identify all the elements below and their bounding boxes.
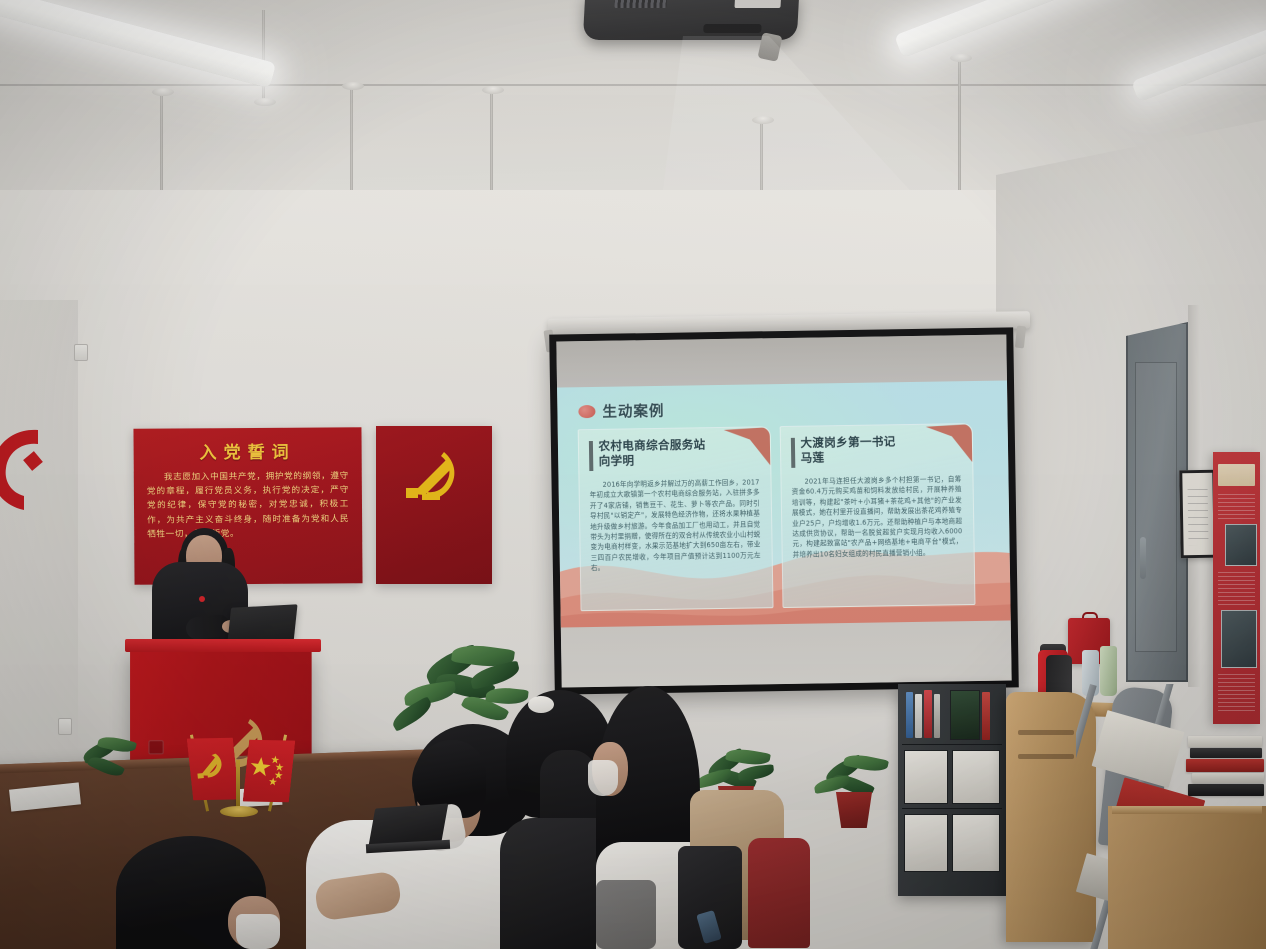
- podium-latch[interactable]: [148, 740, 163, 754]
- party-badge-pin-icon: [199, 596, 205, 602]
- desk-national-flag: [243, 736, 296, 806]
- screen-blank-top: [556, 334, 1007, 387]
- party-oath-title: 入党誓词: [147, 437, 349, 463]
- slide-section-label: 生动案例: [602, 400, 664, 422]
- podium-top-edge: [125, 639, 321, 652]
- light-hanger-plate: [752, 116, 774, 124]
- card-title-line2: 向学明: [599, 452, 706, 469]
- calligraphy-frame: [952, 814, 1000, 872]
- wall-socket: [74, 344, 88, 361]
- meeting-room-photo: 入党誓词 我志愿加入中国共产党，拥护党的纲领，遵守党的章程，履行党员义务，执行党…: [0, 0, 1266, 949]
- light-hanger-rod: [958, 58, 961, 198]
- projector-lens-icon: [703, 24, 761, 33]
- rack-rail: [1076, 684, 1097, 949]
- projector-vent: [614, 0, 667, 8]
- slide-case-card: 农村电商综合服务站 向学明 2016年向学明返乡并解过万的高薪工作回乡，2017…: [578, 426, 774, 611]
- attendee-face-mask: [236, 914, 280, 949]
- light-hanger-rod: [262, 10, 265, 102]
- wall-socket: [58, 718, 72, 735]
- low-cabinet[interactable]: [1108, 806, 1266, 949]
- plant-pot: [832, 792, 876, 828]
- card-title-line2: 马莲: [801, 449, 896, 465]
- attendee-face-mask: [588, 760, 618, 796]
- chair-back: [596, 880, 656, 949]
- book: [1190, 748, 1262, 758]
- certificate-text-lines: [1188, 489, 1209, 545]
- hammer-sickle-emblem-icon: [0, 424, 48, 514]
- rack-item: [1092, 710, 1185, 788]
- door-handle[interactable]: [1140, 537, 1146, 579]
- slide-case-card-list: 农村电商综合服务站 向学明 2016年向学明返乡并解过万的高薪工作回乡，2017…: [578, 423, 976, 611]
- calligraphy-frame: [904, 750, 948, 804]
- hair-scrunchie: [528, 696, 554, 713]
- low-cabinet-top: [1112, 806, 1262, 814]
- poster-text-block: [1218, 572, 1255, 606]
- desk-party-flag: [187, 734, 240, 804]
- projection-screen: 生动案例 农村电商综合服务站 向学明: [549, 327, 1019, 694]
- party-oath-text: 我志愿加入中国共产党，拥护党的纲领，遵守党的章程，履行党员义务，执行党的决定，严…: [147, 469, 349, 541]
- red-garment: [748, 838, 810, 948]
- party-flag-banner: [376, 426, 492, 584]
- card-accent-bar: [589, 441, 593, 471]
- cabinet-shelf: [902, 744, 1002, 745]
- card-title-line1: 大渡岗乡第一书记: [800, 434, 895, 450]
- calligraphy-frame: [952, 750, 1000, 804]
- projector-label: [734, 0, 781, 8]
- book: [1188, 784, 1264, 796]
- card-heading: 农村电商综合服务站 向学明: [589, 436, 759, 471]
- cabinet-framed-portrait: [950, 690, 980, 740]
- cabinet-book: [915, 694, 922, 738]
- slide-case-card: 大渡岗乡第一书记 马莲 2021年马连担任大渡岗乡多个村担第一书记，自筹资金60…: [780, 423, 976, 608]
- cabinet-book: [982, 692, 990, 740]
- hammer-sickle-emblem-icon: [187, 734, 240, 804]
- book: [1192, 773, 1264, 783]
- cabinet-slot: [1018, 730, 1074, 735]
- light-hanger-plate: [950, 54, 972, 62]
- cabinet-shelf: [902, 808, 1002, 809]
- card-title: 大渡岗乡第一书记 马莲: [800, 434, 896, 465]
- display-cabinet[interactable]: [898, 684, 1006, 896]
- cabinet-slot: [1018, 754, 1074, 759]
- ceiling-seam: [0, 84, 1266, 86]
- poster-photo: [1221, 610, 1257, 668]
- party-oath-banner: 入党誓词 我志愿加入中国共产党，拥护党的纲领，遵守党的章程，履行党员义务，执行党…: [133, 427, 362, 585]
- light-hanger-plate: [152, 88, 174, 96]
- card-body-text: 2016年向学明返乡并解过万的高薪工作回乡，2017年初成立大歌镇第一个农村电商…: [589, 477, 760, 573]
- card-body-text: 2021年马连担任大渡岗乡多个村担第一书记，自筹资金60.4万元购买鸡苗和饲料发…: [791, 474, 962, 560]
- projection-screen-surface: 生动案例 农村电商综合服务站 向学明: [556, 334, 1011, 687]
- cabinet-book: [924, 690, 932, 738]
- projected-slide: 生动案例 农村电商综合服务站 向学明: [557, 380, 1011, 627]
- slide-section-heading: 生动案例: [578, 400, 664, 422]
- card-title: 农村电商综合服务站 向学明: [598, 437, 706, 469]
- calligraphy-frame: [904, 814, 948, 872]
- certificate-frame: [1179, 470, 1217, 559]
- light-hanger-plate: [482, 86, 504, 94]
- light-hanger-plate: [342, 82, 364, 90]
- cabinet-book: [934, 694, 940, 738]
- slide-bullet-icon: [578, 405, 595, 418]
- book: [1186, 759, 1264, 772]
- flag-stand-pole: [236, 760, 240, 808]
- hammer-sickle-emblem-icon: [400, 448, 466, 506]
- cabinet-book: [906, 692, 913, 738]
- flag-stand-base: [220, 806, 258, 817]
- card-accent-bar: [791, 438, 795, 468]
- card-title-line1: 农村电商综合服务站: [598, 437, 705, 454]
- door[interactable]: [1126, 322, 1188, 682]
- book: [1188, 736, 1262, 747]
- left-wall-return: [0, 300, 78, 820]
- door-panel: [1135, 362, 1177, 652]
- poster-header: [1218, 464, 1255, 486]
- poster-text-block: [1218, 494, 1255, 520]
- poster-photo: [1225, 524, 1257, 566]
- five-star-icon: [243, 736, 296, 806]
- card-heading: 大渡岗乡第一书记 马莲: [791, 433, 961, 468]
- light-hanger-plate: [254, 98, 276, 106]
